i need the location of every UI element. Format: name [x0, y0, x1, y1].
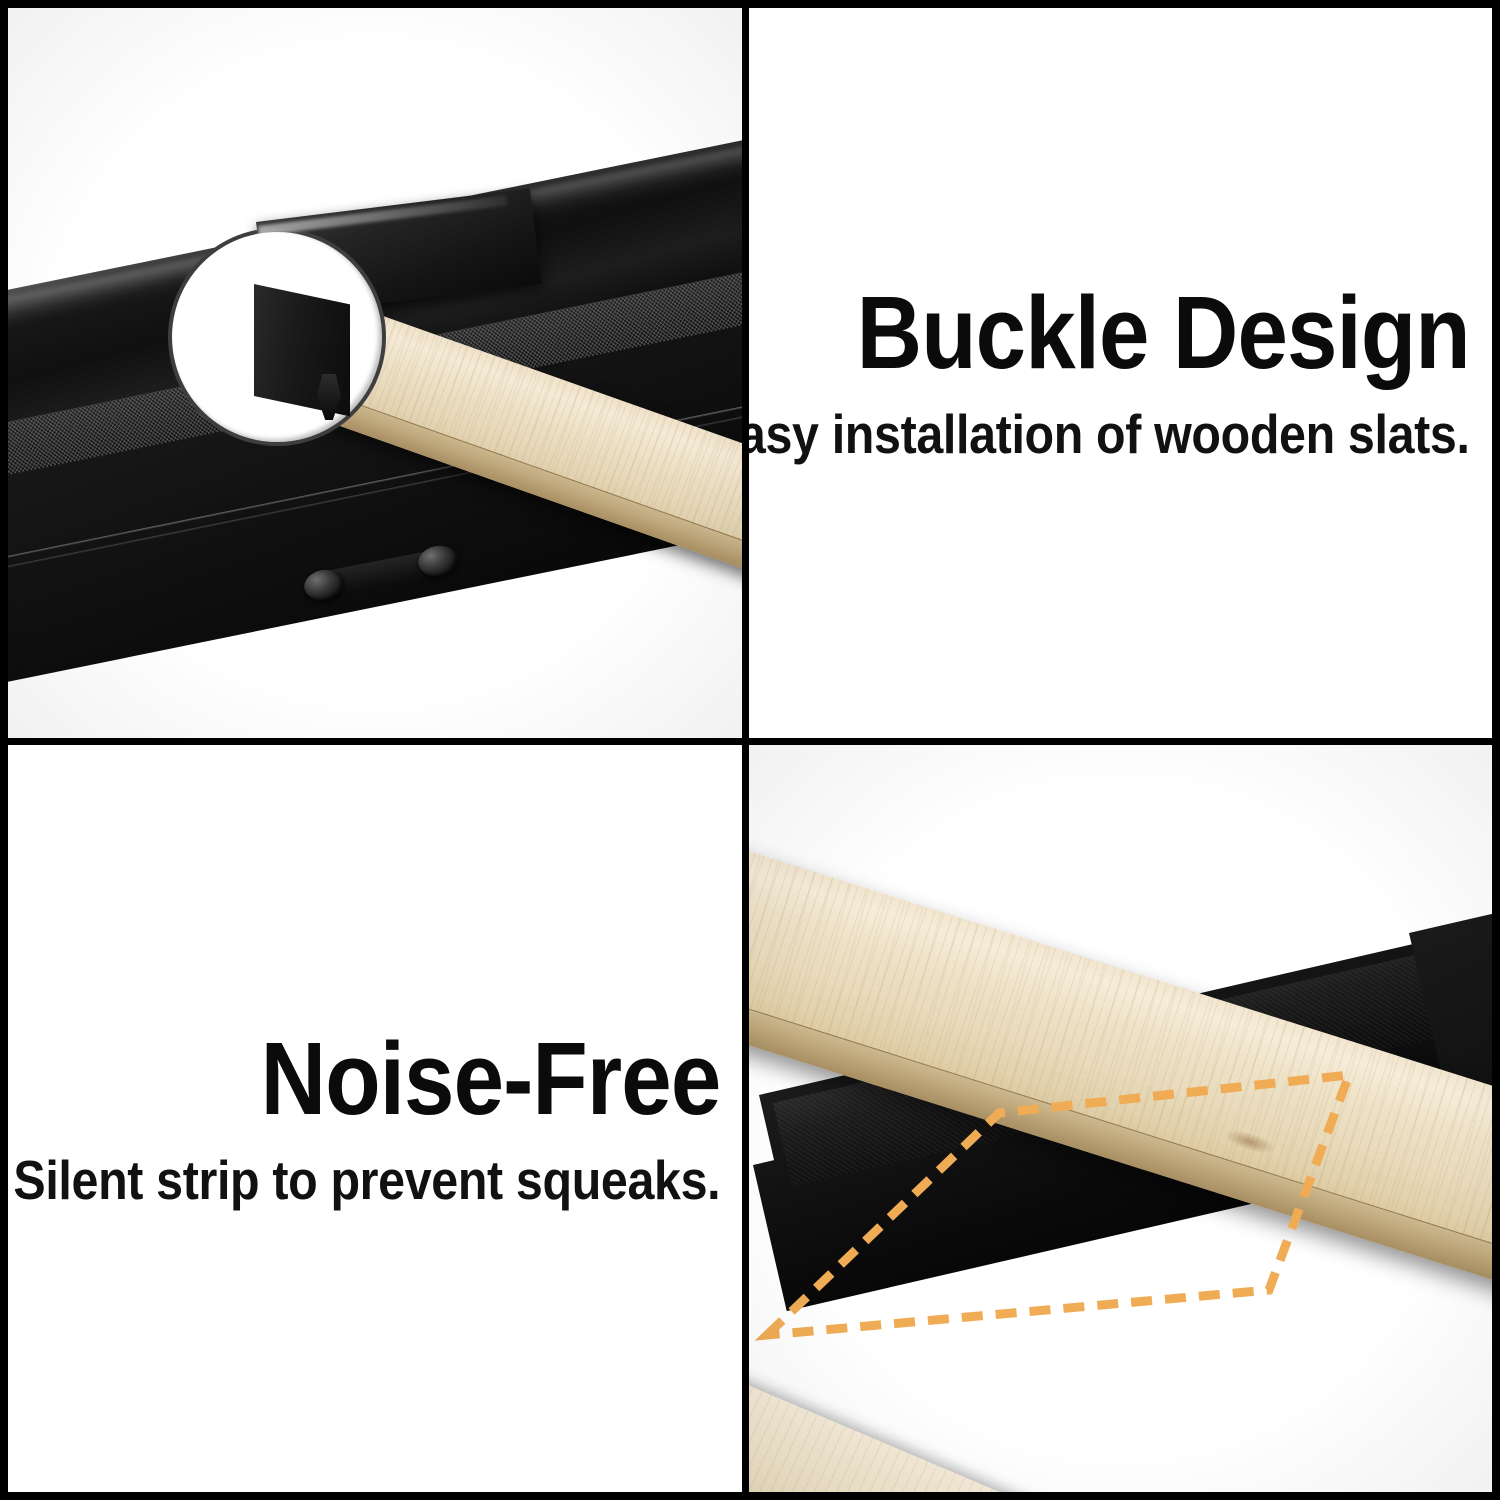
frame-border-left: [0, 0, 8, 1500]
product-feature-infographic: Buckle Design Easy installation of woode…: [0, 0, 1500, 1500]
wooden-slat-lower: [749, 1305, 1130, 1492]
noise-text-block: Noise-Free Silent strip to prevent squea…: [8, 745, 742, 1492]
buckle-text-block: Buckle Design Easy installation of woode…: [749, 8, 1492, 738]
panel-buckle-text: Buckle Design Easy installation of woode…: [749, 8, 1492, 738]
noise-subline: Silent strip to prevent squeaks.: [13, 1150, 720, 1211]
frame-border-top: [0, 0, 1500, 8]
wood-grain-texture: [749, 1305, 1130, 1492]
buckle-headline: Buckle Design: [857, 281, 1470, 384]
buckle-photo-image: [8, 8, 742, 738]
grid-divider-horizontal: [0, 738, 1500, 745]
panel-silent-strip-photo: [749, 745, 1492, 1492]
buckle-subline: Easy installation of wooden slats.: [749, 404, 1470, 465]
panel-buckle-photo: [8, 8, 742, 738]
frame-border-bottom: [0, 1492, 1500, 1500]
silent-strip-photo-image: [749, 745, 1492, 1492]
noise-headline: Noise-Free: [260, 1027, 720, 1130]
grid-divider-vertical: [742, 0, 749, 1500]
panel-noise-text: Noise-Free Silent strip to prevent squea…: [8, 745, 742, 1492]
frame-border-right: [1492, 0, 1500, 1500]
